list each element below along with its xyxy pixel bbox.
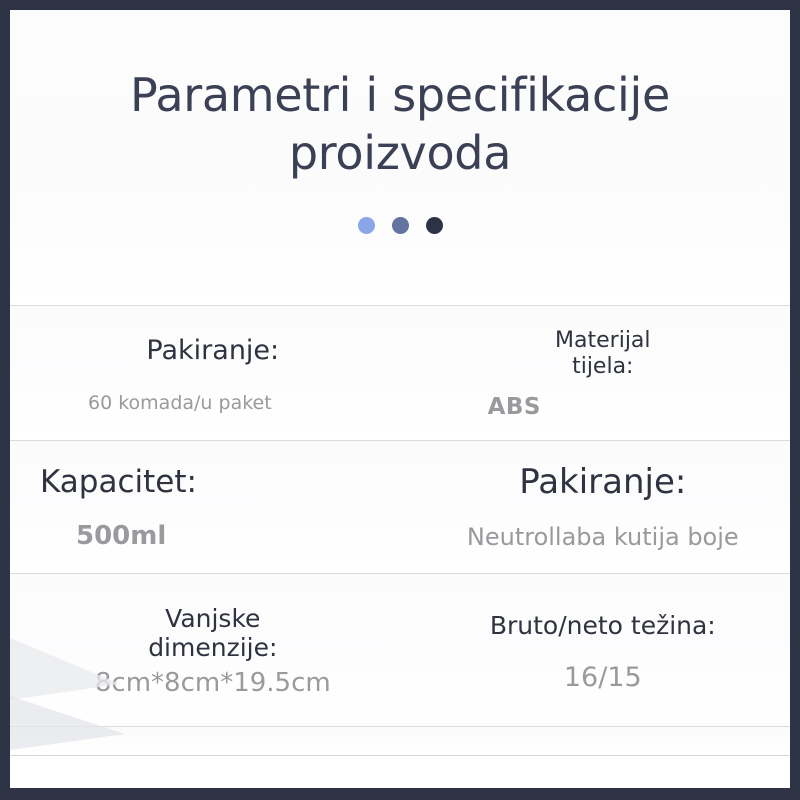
spec-cell-packaging-count: Pakiranje: 60 komada/u paket [10, 306, 416, 440]
pagination-dot-2[interactable] [392, 217, 409, 234]
spec-value: 8cm*8cm*19.5cm [95, 669, 331, 699]
spec-label: Pakiranje: [519, 462, 686, 502]
table-spacer-top [10, 726, 790, 755]
pagination-dot-3[interactable] [426, 217, 443, 234]
spec-label: Materijal tijela: [555, 328, 651, 380]
table-row: Kapacitet: 500ml Pakiranje: Neutrollaba … [10, 440, 790, 573]
spec-label: Bruto/neto težina: [490, 611, 716, 641]
spec-value: 16/15 [564, 662, 642, 693]
pagination-dot-1[interactable] [358, 217, 375, 234]
table-spacer-bottom [10, 755, 790, 788]
spec-cell-capacity: Kapacitet: 500ml [10, 441, 416, 573]
card-header: Parametri i specifikacije proizvoda [10, 10, 790, 305]
spec-label: Pakiranje: [146, 335, 279, 367]
spec-table: Pakiranje: 60 komada/u paket Materijal t… [10, 305, 790, 788]
pagination-dots [10, 217, 790, 234]
spec-value: 60 komada/u paket [10, 393, 272, 415]
page-title: Parametri i specifikacije proizvoda [10, 66, 790, 182]
spec-label: Vanjske dimenzije: [148, 604, 277, 663]
spec-cell-gross-net-weight: Bruto/neto težina: 16/15 [416, 574, 790, 726]
spec-cell-outer-dimensions: Vanjske dimenzije: 8cm*8cm*19.5cm [10, 574, 416, 726]
spec-card: Parametri i specifikacije proizvoda Paki… [10, 10, 790, 788]
spec-value: ABS [416, 394, 541, 420]
outer-frame: Parametri i specifikacije proizvoda Paki… [0, 0, 800, 800]
spec-value: 500ml [40, 522, 166, 552]
spec-value: Neutrollaba kutija boje [467, 524, 739, 552]
table-row: Vanjske dimenzije: 8cm*8cm*19.5cm Bruto/… [10, 573, 790, 726]
spec-cell-body-material: Materijal tijela: ABS [416, 306, 790, 440]
table-row: Pakiranje: 60 komada/u paket Materijal t… [10, 305, 790, 440]
spec-cell-packaging-type: Pakiranje: Neutrollaba kutija boje [416, 441, 790, 573]
spec-label: Kapacitet: [40, 464, 197, 501]
